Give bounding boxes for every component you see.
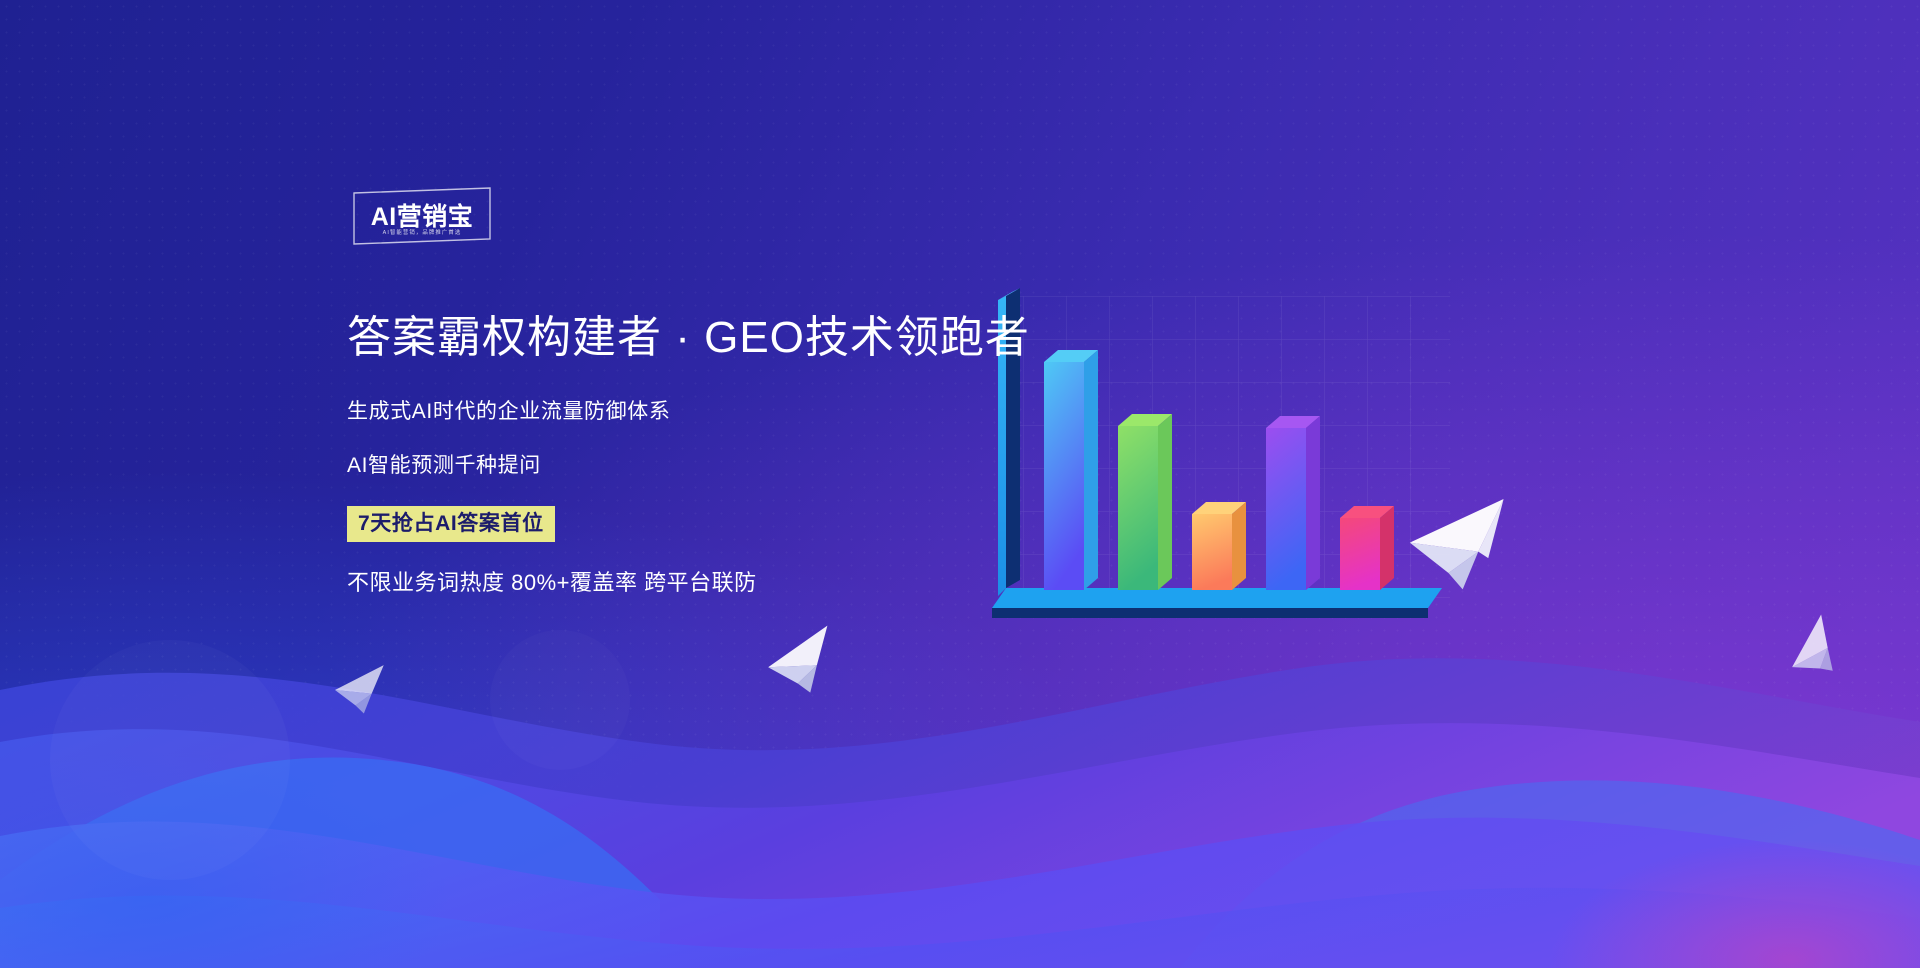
paper-plane-top-right-icon <box>1782 615 1855 689</box>
paper-plane-decorations <box>0 0 1920 968</box>
paper-plane-mid-left-icon <box>762 626 848 704</box>
promo-banner: AI营销宝 AI智能营销，品牌推广首选 <box>0 0 1920 968</box>
paper-plane-small-left-icon <box>332 665 394 719</box>
paper-plane-large-right-icon <box>1405 499 1520 598</box>
